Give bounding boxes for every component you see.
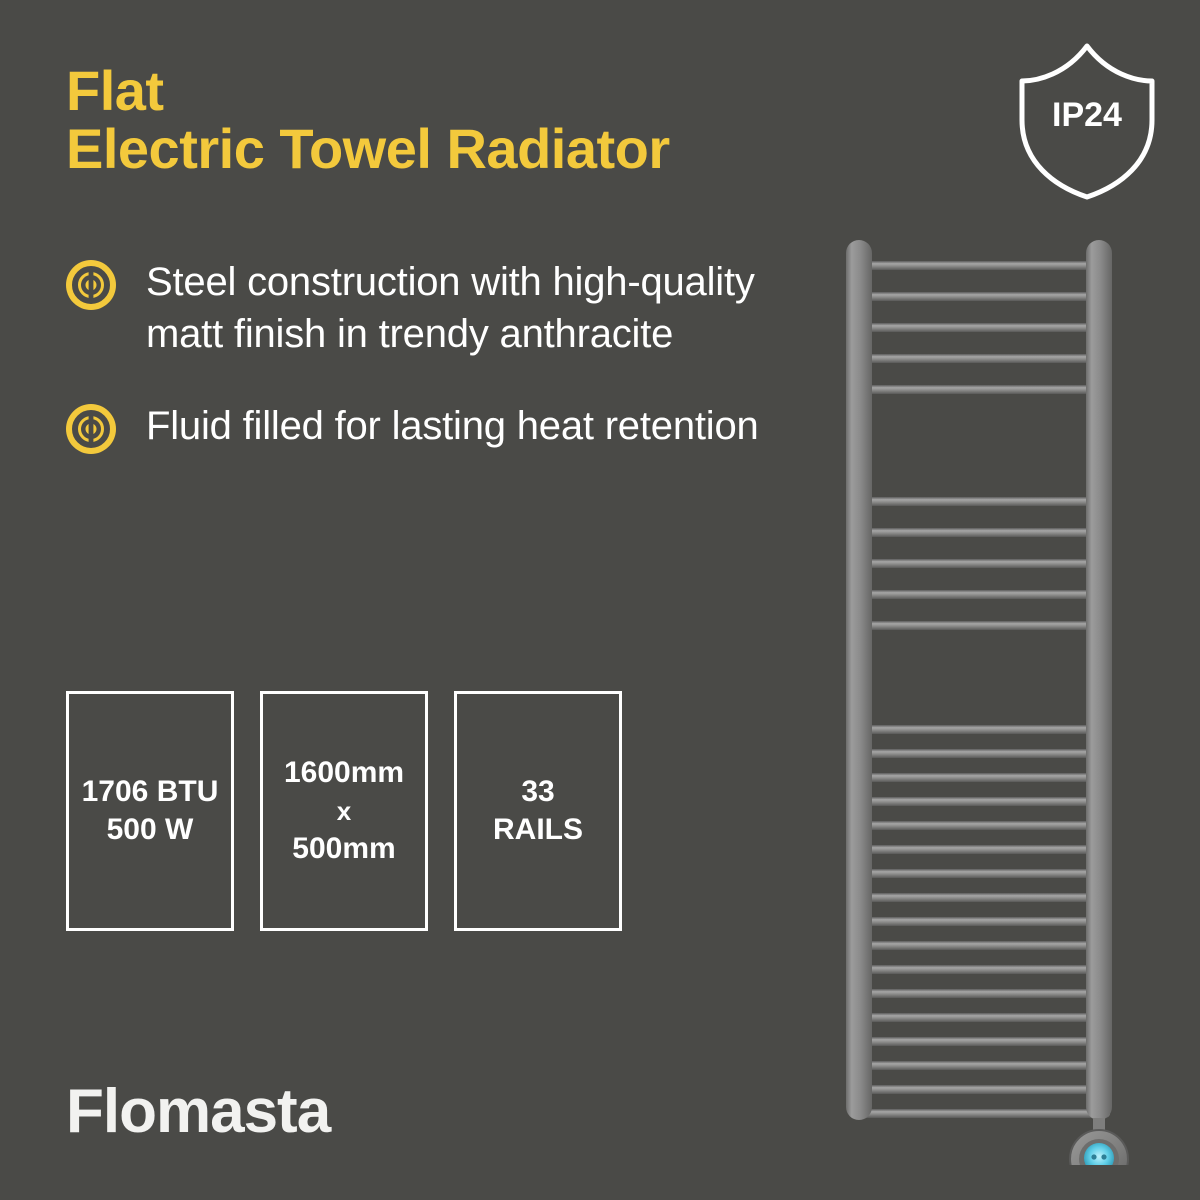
spec-dimensions-line-2: x — [284, 792, 404, 830]
spec-output-line-1: 1706 BTU — [82, 773, 219, 811]
feature-text: Fluid filled for lasting heat retention — [146, 400, 766, 452]
ip-rating-label: IP24 — [1012, 96, 1162, 135]
valve-bullet-icon — [66, 404, 116, 454]
spec-box-group: 1706 BTU 500 W 1600mm x 500mm 33 RAILS — [66, 691, 622, 931]
feature-text: Steel construction with high-quality mat… — [146, 256, 766, 360]
spec-rails-line-1: 33 — [493, 773, 583, 811]
headline-line-1: Flat — [66, 62, 826, 120]
spec-box-rails: 33 RAILS — [454, 691, 622, 931]
feature-item: Steel construction with high-quality mat… — [66, 256, 766, 360]
spec-output-line-2: 500 W — [82, 811, 219, 849]
spec-dimensions-line-1: 1600mm — [284, 754, 404, 792]
headline-line-2: Electric Towel Radiator — [66, 120, 826, 178]
radiator-rails — [850, 261, 1110, 1118]
spec-dimensions-line-3: 500mm — [284, 830, 404, 868]
heating-element-control[interactable] — [1070, 1118, 1128, 1165]
valve-bullet-icon — [66, 260, 116, 310]
spec-box-output: 1706 BTU 500 W — [66, 691, 234, 931]
radiator-side-posts — [846, 240, 1112, 1120]
marketing-image-canvas: Flat Electric Towel Radiator IP24 Steel … — [0, 0, 1200, 1200]
spec-rails-line-2: RAILS — [493, 811, 583, 849]
brand-name: Flomasta — [66, 1078, 332, 1146]
page-title: Flat Electric Towel Radiator — [66, 62, 826, 178]
flomasta-wordmark: Flomasta — [66, 1078, 366, 1148]
feature-list: Steel construction with high-quality mat… — [66, 256, 766, 492]
product-image-radiator — [820, 225, 1140, 1165]
ip-rating-badge: IP24 — [1012, 34, 1162, 204]
feature-item: Fluid filled for lasting heat retention — [66, 400, 766, 452]
brand-logo: Flomasta — [66, 1078, 366, 1148]
spec-box-dimensions: 1600mm x 500mm — [260, 691, 428, 931]
